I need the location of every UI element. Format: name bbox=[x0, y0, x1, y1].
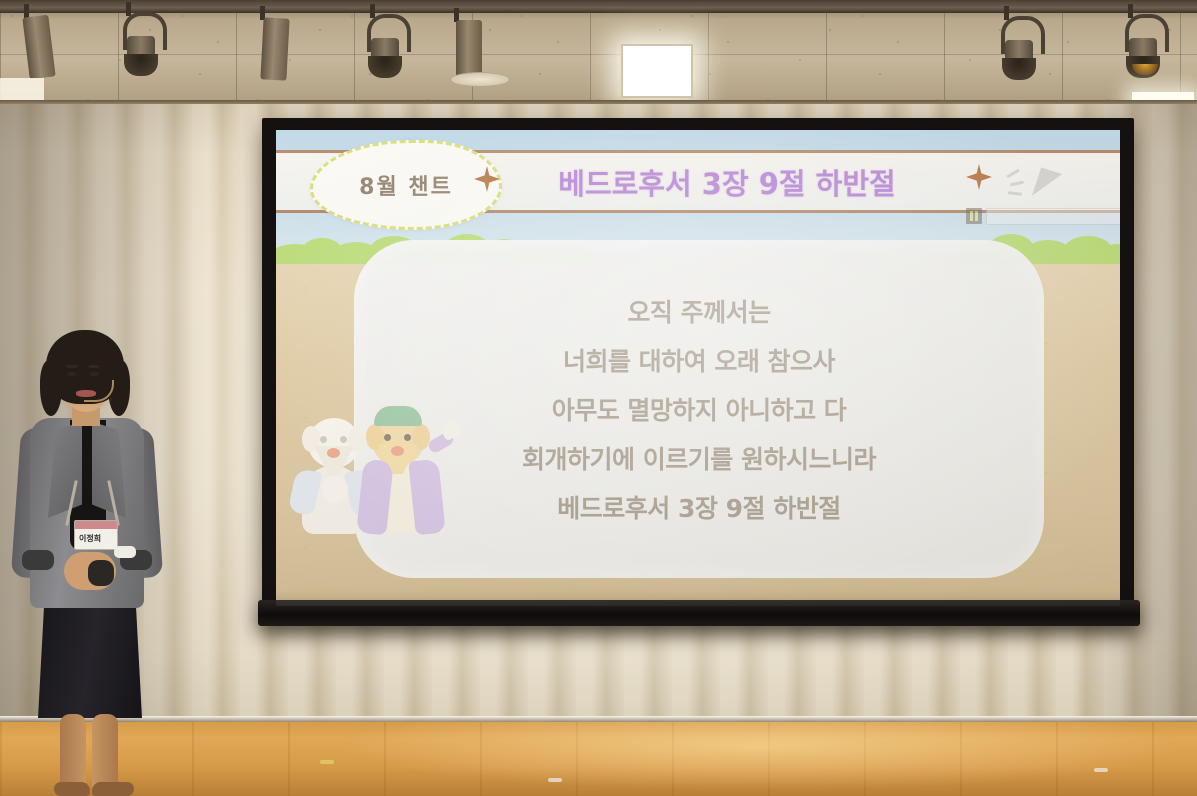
floor-tape-mark bbox=[1094, 768, 1108, 772]
presenter-brow bbox=[66, 365, 78, 368]
seek-bar[interactable]: 🔊 bbox=[986, 208, 1120, 225]
lighting-track-rail bbox=[0, 0, 1197, 13]
media-player-bar[interactable]: 🔊 bbox=[966, 206, 1120, 226]
recessed-can-trim bbox=[450, 72, 510, 87]
wood-floor bbox=[0, 722, 1197, 796]
slide-title: 베드로후서 3장 9절 하반절 bbox=[512, 156, 942, 208]
character-hat bbox=[374, 406, 422, 426]
verse-line: 오직 주께서는 bbox=[627, 293, 770, 329]
presenter-watch bbox=[114, 546, 136, 558]
star-sparkle-icon bbox=[966, 164, 992, 190]
presenter-eye bbox=[90, 372, 99, 376]
verse-line: 회개하기에 이르기를 원하시느니라 bbox=[522, 440, 876, 476]
ceiling-panel-light bbox=[0, 78, 44, 102]
presenter-shoe bbox=[92, 782, 134, 796]
presenter-brow bbox=[88, 365, 100, 368]
star-sparkle-icon bbox=[474, 166, 500, 192]
presenter-eye bbox=[67, 372, 76, 376]
ceiling-panel-light bbox=[621, 44, 693, 98]
room-photo: 8월 챈트 베드로후서 3장 9절 하반절 🔊 오직 주께서는 bbox=[0, 0, 1197, 796]
presenter-shoe bbox=[54, 782, 90, 796]
pause-button[interactable] bbox=[966, 208, 982, 224]
slide-month-tag-label: 8월 챈트 bbox=[359, 169, 453, 201]
presenter-leg bbox=[92, 714, 118, 792]
floor-tape-mark bbox=[320, 760, 334, 764]
slide-canvas[interactable]: 8월 챈트 베드로후서 3장 9절 하반절 🔊 오직 주께서는 bbox=[276, 130, 1120, 606]
name-badge-text: 이정희 bbox=[79, 533, 101, 544]
presenter-held-object bbox=[88, 560, 114, 586]
presenter-skirt bbox=[38, 602, 142, 718]
presenter-leg bbox=[60, 714, 86, 792]
verse-line: 아무도 멸망하지 아니하고 다 bbox=[552, 391, 847, 427]
verse-line: 너희를 대하여 오래 참으사 bbox=[563, 342, 835, 378]
slide-character-group bbox=[290, 400, 470, 540]
floor-reflection bbox=[0, 722, 1197, 796]
screen-bottom-weight-bar bbox=[258, 600, 1140, 626]
verse-line: 베드로후서 3장 9절 하반절 bbox=[557, 489, 840, 525]
name-badge: 이정희 bbox=[74, 520, 118, 550]
floor-tape-mark bbox=[548, 778, 562, 782]
character-elder-purple bbox=[356, 406, 452, 534]
presenter: 이정희 bbox=[8, 330, 178, 796]
presenter-cuff bbox=[22, 550, 54, 570]
projection-screen[interactable]: 8월 챈트 베드로후서 3장 9절 하반절 🔊 오직 주께서는 bbox=[262, 118, 1134, 618]
ceiling bbox=[0, 0, 1197, 108]
